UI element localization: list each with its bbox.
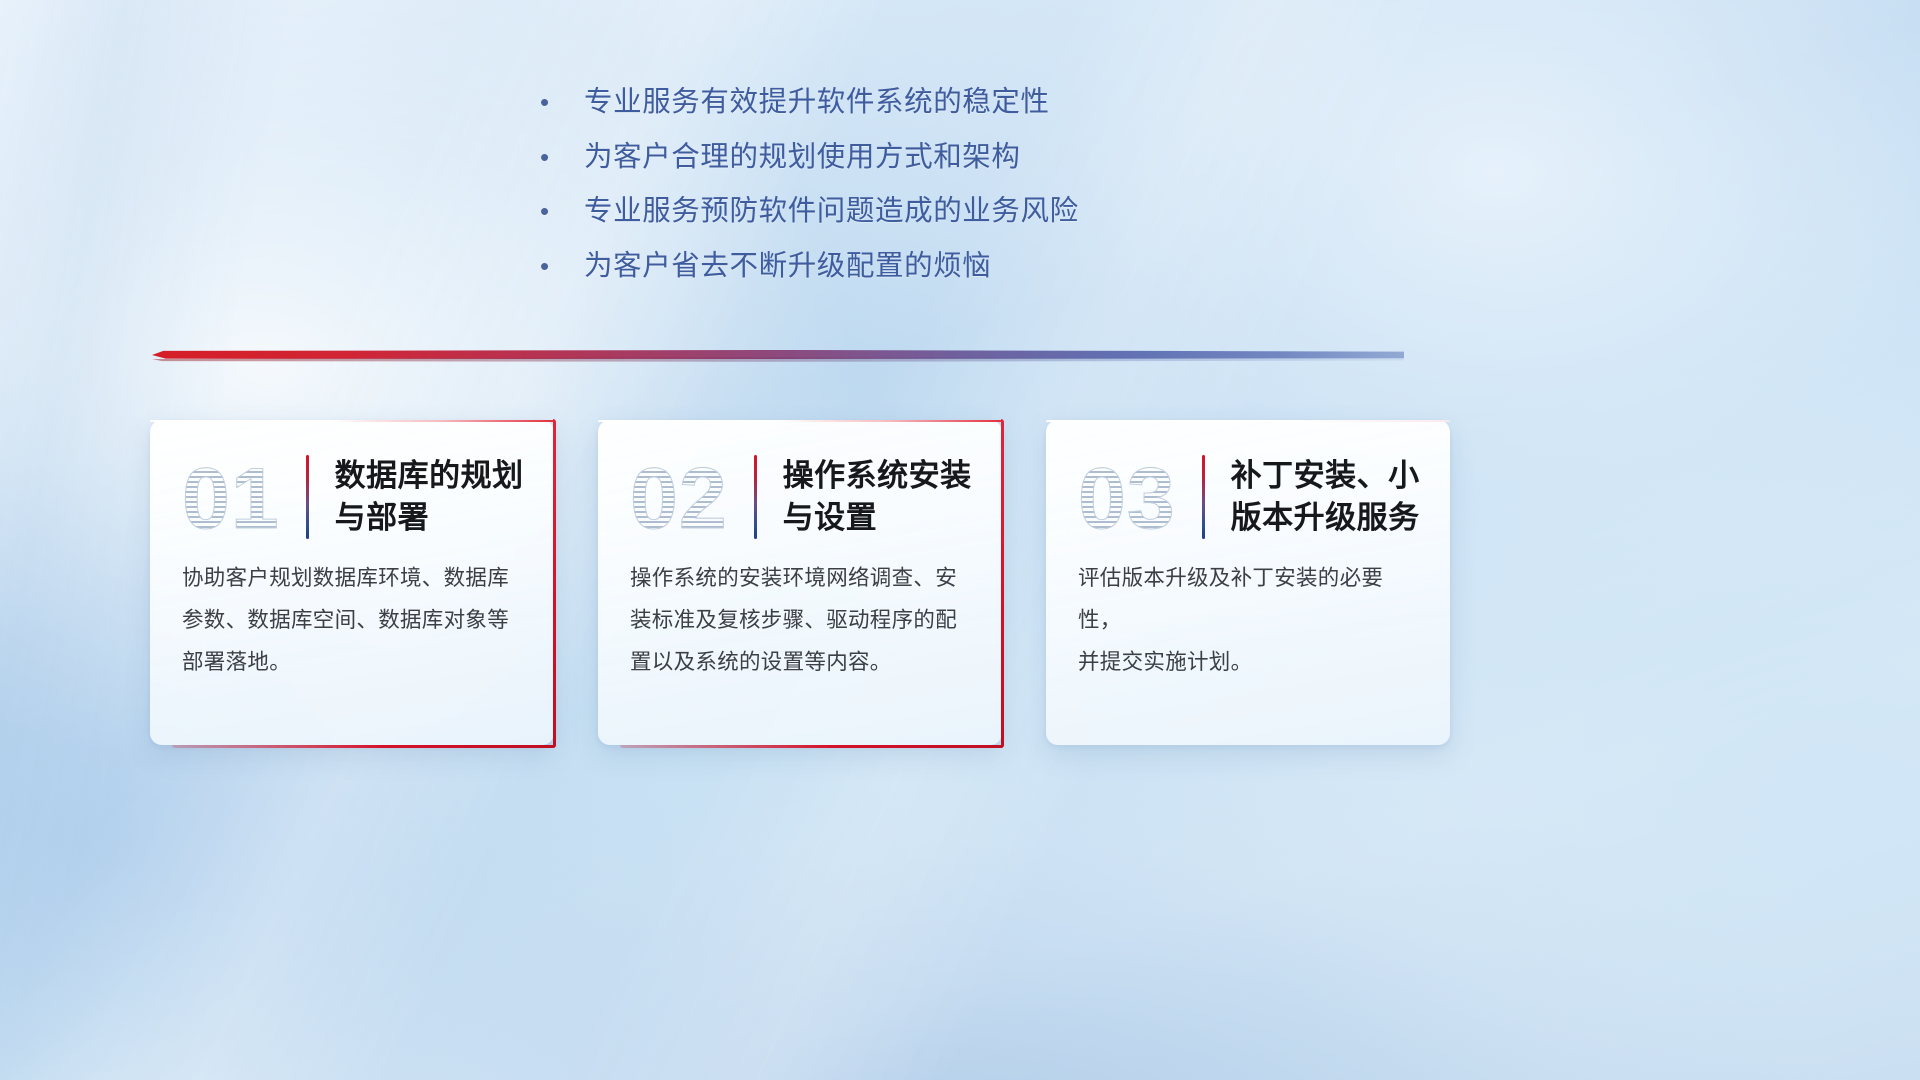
bullet-text: 专业服务有效提升软件系统的稳定性 [584,88,1050,117]
card-body-text: 评估版本升级及补丁安装的必要性， 并提交实施计划。 [1046,540,1450,684]
card-body-text: 协助客户规划数据库环境、数据库 参数、数据库空间、数据库对象等 部署落地。 [150,540,554,684]
card-accent-bar [1202,455,1205,539]
list-item: • 为客户合理的规划使用方式和架构 [540,143,1540,172]
bullet-marker-icon: • [540,144,584,170]
bullet-text: 为客户合理的规划使用方式和架构 [584,143,1021,172]
card-03[interactable]: 03 补丁安装、小 版本升级服务 评估版本升级及补丁安装的必要性， 并提交实施计… [1046,420,1450,745]
card-accent-bar [754,455,757,539]
card-header: 02 操作系统安装 与设置 [598,420,1002,540]
card-title: 数据库的规划 与部署 [335,455,524,538]
bullet-text: 为客户省去不断升级配置的烦恼 [584,252,991,281]
card-body-text: 操作系统的安装环境网络调查、安 装标准及复核步骤、驱动程序的配 置以及系统的设置… [598,540,1002,684]
list-item: • 为客户省去不断升级配置的烦恼 [540,252,1540,281]
card-top-sheen [1046,420,1450,422]
bullet-marker-icon: • [540,198,584,224]
card-01[interactable]: 01 数据库的规划 与部署 协助客户规划数据库环境、数据库 参数、数据库空间、数… [150,420,554,745]
card-title: 操作系统安装 与设置 [783,455,972,538]
card-row: 01 数据库的规划 与部署 协助客户规划数据库环境、数据库 参数、数据库空间、数… [150,420,1450,745]
gradient-divider [152,348,1404,362]
card-header: 01 数据库的规划 与部署 [150,420,554,540]
card-header: 03 补丁安装、小 版本升级服务 [1046,420,1450,540]
bullet-list: • 专业服务有效提升软件系统的稳定性 • 为客户合理的规划使用方式和架构 • 专… [540,88,1540,306]
card-number: 03 [1078,456,1176,542]
slide-canvas: • 专业服务有效提升软件系统的稳定性 • 为客户合理的规划使用方式和架构 • 专… [0,0,1920,1080]
bullet-marker-icon: • [540,253,584,279]
bullet-marker-icon: • [540,89,584,115]
list-item: • 专业服务预防软件问题造成的业务风险 [540,197,1540,226]
card-accent-bar [306,455,309,539]
list-item: • 专业服务有效提升软件系统的稳定性 [540,88,1540,117]
card-top-sheen [598,420,1002,422]
card-number: 02 [630,456,728,542]
bullet-text: 专业服务预防软件问题造成的业务风险 [584,197,1079,226]
card-title: 补丁安装、小 版本升级服务 [1231,455,1420,538]
card-top-sheen [150,420,554,422]
card-number: 01 [182,456,280,542]
card-02[interactable]: 02 操作系统安装 与设置 操作系统的安装环境网络调查、安 装标准及复核步骤、驱… [598,420,1002,745]
